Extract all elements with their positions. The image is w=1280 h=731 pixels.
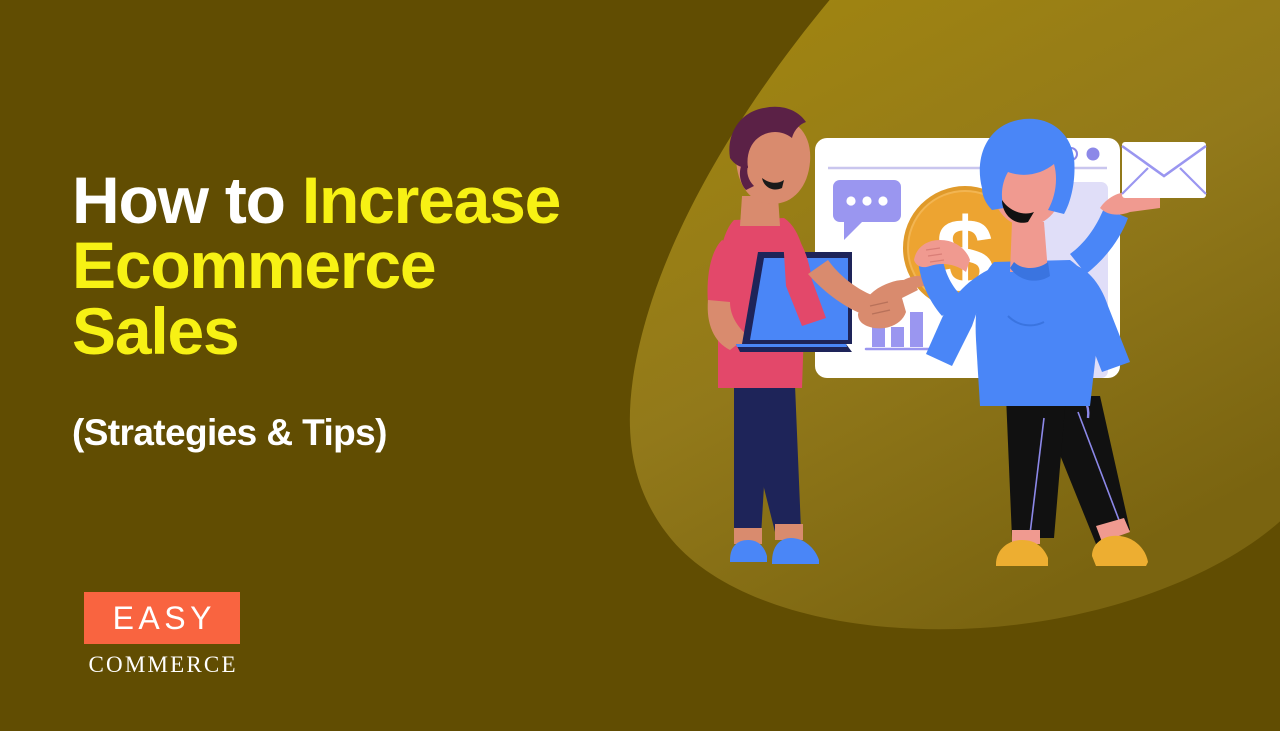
laptop-base-edge: [736, 344, 847, 347]
logo-wordmark-label: COMMERCE: [84, 653, 240, 676]
man-sleeve-left: [708, 240, 736, 306]
envelope-icon: [1122, 142, 1206, 198]
envelope-body: [1122, 142, 1206, 198]
illustration-svg: $: [630, 100, 1270, 660]
brand-logo[interactable]: EASY COMMERCE: [84, 592, 240, 676]
chat-bubble-dot-2-icon: [862, 196, 871, 205]
hero-illustration: $: [630, 100, 1270, 660]
browser-dot-3-icon[interactable]: [1087, 148, 1100, 161]
poster-canvas: How to Increase Ecommerce Sales (Strateg…: [0, 0, 1280, 731]
headline-line-1: How to Increase: [72, 168, 672, 233]
woman-shoe-back: [1092, 536, 1148, 566]
man-ankle-right: [775, 524, 803, 540]
headline-accent-ecommerce: Ecommerce: [72, 233, 672, 298]
woman-leg-front: [1006, 396, 1066, 538]
woman-shoe-front: [996, 540, 1048, 566]
headline-plain-text: How to: [72, 163, 302, 237]
headline-accent-sales: Sales: [72, 299, 672, 364]
bar-chart-bar-2: [891, 327, 904, 347]
logo-mark-box: EASY: [84, 592, 240, 644]
man-shoe-right: [772, 538, 819, 564]
headline-accent-increase: Increase: [302, 163, 560, 237]
page-title: How to Increase Ecommerce Sales: [72, 168, 672, 364]
headline-block: How to Increase Ecommerce Sales (Strateg…: [72, 168, 672, 454]
man-leg-front: [734, 385, 770, 536]
chat-bubble-dot-3-icon: [878, 196, 887, 205]
bar-chart-bar-3: [910, 312, 923, 347]
logo-mark-label: EASY: [108, 602, 216, 634]
chat-bubble-dot-1-icon: [846, 196, 855, 205]
subtitle: (Strategies & Tips): [72, 412, 672, 454]
